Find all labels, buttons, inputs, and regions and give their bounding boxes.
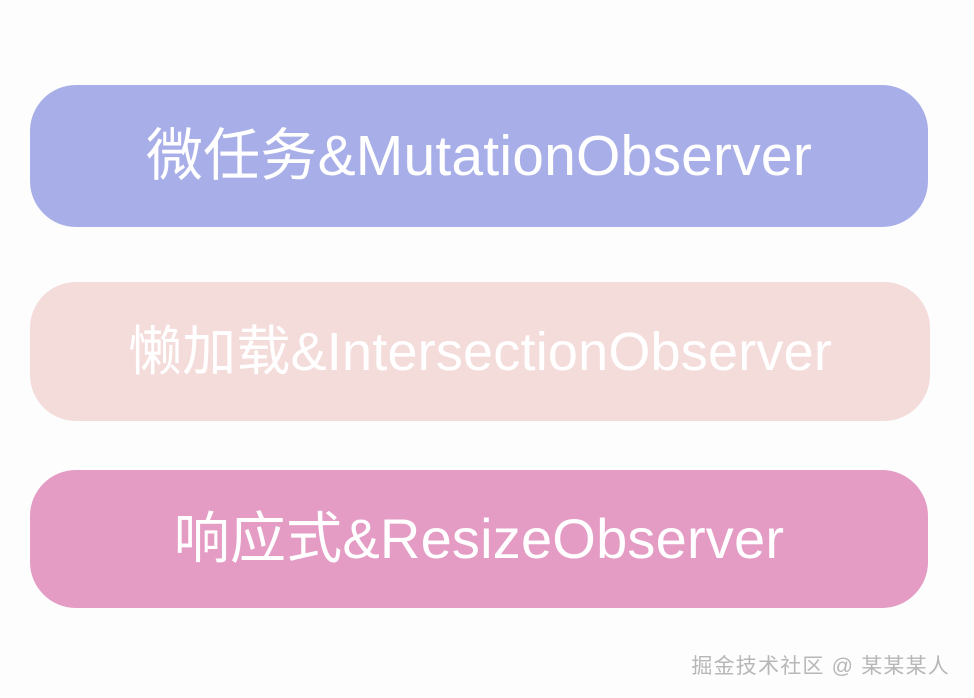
bar-responsive[interactable]: 响应式&ResizeObserver [30,470,928,608]
bar-lazyload-label: 懒加载&IntersectionObserver [128,325,832,379]
bar-microtask[interactable]: 微任务&MutationObserver [30,85,928,227]
bar-stack: 微任务&MutationObserver 懒加载&IntersectionObs… [0,0,974,698]
diagram-canvas: 微任务&MutationObserver 懒加载&IntersectionObs… [0,0,974,698]
bar-lazyload[interactable]: 懒加载&IntersectionObserver [30,282,930,421]
bar-responsive-label: 响应式&ResizeObserver [174,511,784,567]
bar-microtask-label: 微任务&MutationObserver [146,128,812,185]
watermark: 掘金技术社区 @ 某某某人 [691,650,950,680]
